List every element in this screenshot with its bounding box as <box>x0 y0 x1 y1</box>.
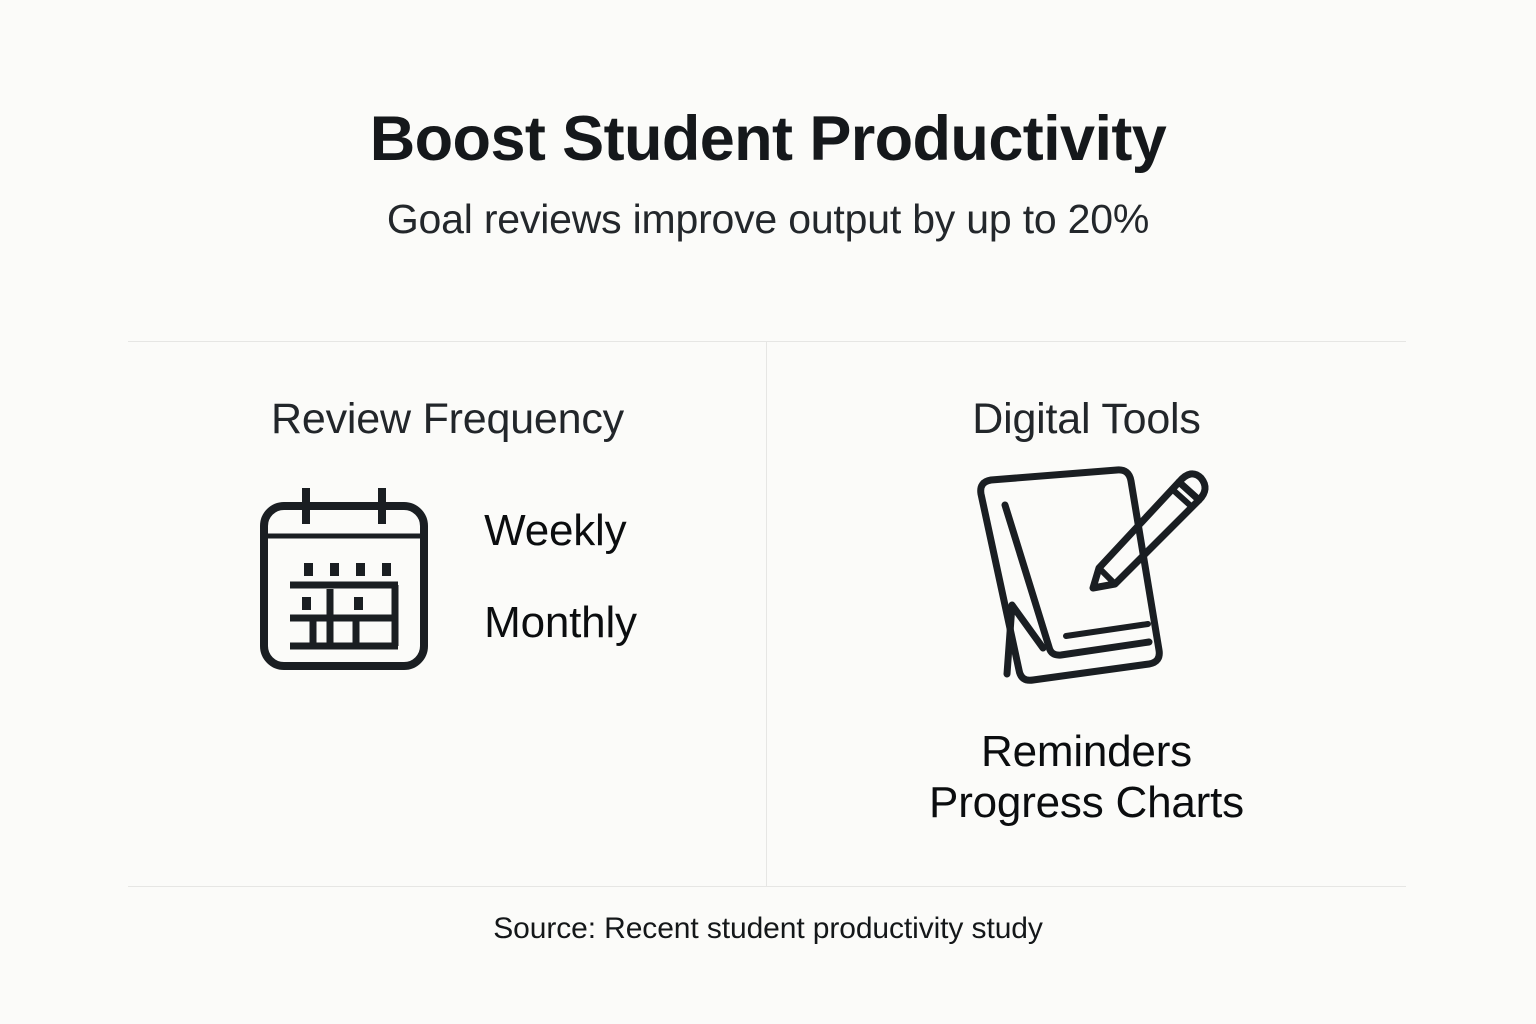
list-item: Monthly <box>484 601 637 645</box>
page-subtitle: Goal reviews improve output by up to 20% <box>0 171 1536 240</box>
digital-tools-list: Reminders Progress Charts <box>929 726 1244 828</box>
source-note: Source: Recent student productivity stud… <box>0 912 1536 946</box>
review-frequency-list: Weekly Monthly <box>484 509 637 645</box>
panel-heading-digital-tools: Digital Tools <box>767 398 1406 441</box>
divider-bottom <box>128 886 1406 887</box>
infographic-canvas: Boost Student Productivity Goal reviews … <box>0 0 1536 1024</box>
list-item: Weekly <box>484 509 637 553</box>
panel-left-body: Weekly Monthly <box>129 484 766 670</box>
panel-review-frequency: Review Frequency <box>129 342 766 886</box>
page-title: Boost Student Productivity <box>0 108 1536 171</box>
list-item: Progress Charts <box>929 777 1244 828</box>
header: Boost Student Productivity Goal reviews … <box>0 108 1536 240</box>
list-item: Reminders <box>929 726 1244 777</box>
panel-right-body: Reminders Progress Charts <box>767 462 1406 828</box>
tablet-pencil-icon <box>963 462 1211 690</box>
panel-heading-review-frequency: Review Frequency <box>129 398 766 441</box>
source-note-text: Source: Recent student productivity stud… <box>493 912 1043 945</box>
panel-digital-tools: Digital Tools <box>767 342 1406 886</box>
calendar-icon <box>258 484 430 670</box>
